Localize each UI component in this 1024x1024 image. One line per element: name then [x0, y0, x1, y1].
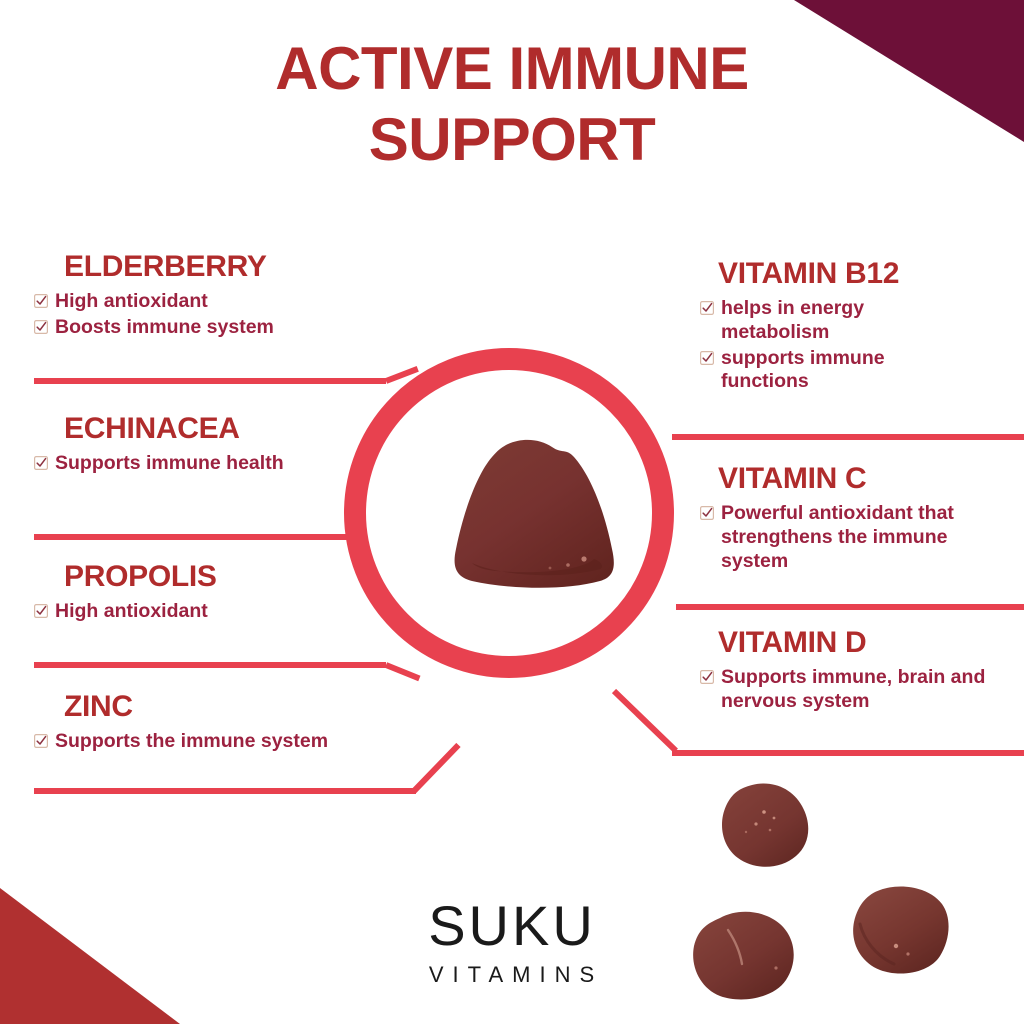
bullet-text: helps in energy metabolism: [721, 297, 946, 345]
section-heading-echinacea: ECHINACEA: [34, 412, 324, 446]
connector-line-vitaminc: [676, 604, 1024, 610]
connector-line-echinacea: [34, 534, 350, 540]
bullet-list-echinacea: Supports immune health: [34, 452, 324, 476]
list-item: Supports immune, brain and nervous syste…: [700, 666, 1020, 714]
section-zinc: ZINC Supports the immune system: [34, 690, 434, 756]
connector-line-zinc: [34, 788, 416, 794]
section-elderberry: ELDERBERRY High antioxidant Boosts immun…: [34, 250, 434, 342]
section-heading-zinc: ZINC: [34, 690, 434, 724]
list-item: Powerful antioxidant that strengthens th…: [700, 502, 1020, 573]
checkbox-checked-icon: [700, 301, 714, 315]
section-heading-vitamin-b12: VITAMIN B12: [700, 257, 1020, 291]
section-vitamin-d: VITAMIN D Supports immune, brain and ner…: [700, 626, 1020, 716]
bullet-list-vitamin-c: Powerful antioxidant that strengthens th…: [700, 502, 1020, 573]
connector-line-elderberry: [34, 378, 386, 384]
section-heading-vitamin-d: VITAMIN D: [700, 626, 1020, 660]
checkbox-checked-icon: [700, 351, 714, 365]
checkbox-checked-icon: [700, 506, 714, 520]
connector-line-vitamind: [672, 750, 1024, 756]
list-item: supports immune functions: [700, 347, 1020, 395]
section-heading-vitamin-c: VITAMIN C: [700, 462, 1020, 496]
page-title: ACTIVE IMMUNE SUPPORT: [0, 34, 1024, 176]
bullet-text: Supports immune, brain and nervous syste…: [721, 666, 989, 714]
page-title-line1: ACTIVE IMMUNE: [275, 35, 749, 102]
list-item: High antioxidant: [34, 290, 434, 314]
list-item: helps in energy metabolism: [700, 297, 1020, 345]
brand-logo: SUKU VITAMINS: [0, 898, 1024, 986]
list-item: Supports immune health: [34, 452, 324, 476]
bullet-list-vitamin-b12: helps in energy metabolism supports immu…: [700, 297, 1020, 394]
bullet-text: Supports the immune system: [55, 730, 328, 754]
page-title-line2: SUPPORT: [0, 105, 1024, 176]
list-item: Supports the immune system: [34, 730, 434, 754]
bullet-text: Supports immune health: [55, 452, 284, 476]
infographic-canvas: ACTIVE IMMUNE SUPPORT: [0, 0, 1024, 1024]
bullet-text: Boosts immune system: [55, 316, 274, 340]
bullet-text: supports immune functions: [721, 347, 946, 395]
connector-diagonal-vitamind: [612, 689, 678, 753]
section-heading-elderberry: ELDERBERRY: [34, 250, 434, 284]
checkbox-checked-icon: [34, 734, 48, 748]
bullet-list-elderberry: High antioxidant Boosts immune system: [34, 290, 434, 340]
checkbox-checked-icon: [34, 604, 48, 618]
connector-line-propolis: [34, 662, 386, 668]
bullet-text: Powerful antioxidant that strengthens th…: [721, 502, 969, 573]
checkbox-checked-icon: [34, 294, 48, 308]
checkbox-checked-icon: [34, 456, 48, 470]
bullet-list-zinc: Supports the immune system: [34, 730, 434, 754]
connector-diagonal-propolis: [385, 662, 421, 681]
list-item: Boosts immune system: [34, 316, 434, 340]
brand-subtitle: VITAMINS: [0, 964, 1024, 986]
section-echinacea: ECHINACEA Supports immune health: [34, 412, 324, 478]
bullet-list-vitamin-d: Supports immune, brain and nervous syste…: [700, 666, 1020, 714]
checkbox-checked-icon: [34, 320, 48, 334]
connector-line-b12: [672, 434, 1024, 440]
bullet-text: High antioxidant: [55, 290, 208, 314]
gummy-vitamin-icon: [444, 437, 629, 597]
section-vitamin-c: VITAMIN C Powerful antioxidant that stre…: [700, 462, 1020, 575]
gummy-vitamin-icon: [716, 782, 814, 870]
brand-name: SUKU: [0, 898, 1024, 954]
section-vitamin-b12: VITAMIN B12 helps in energy metabolism s…: [700, 257, 1020, 396]
bullet-text: High antioxidant: [55, 600, 208, 624]
checkbox-checked-icon: [700, 670, 714, 684]
